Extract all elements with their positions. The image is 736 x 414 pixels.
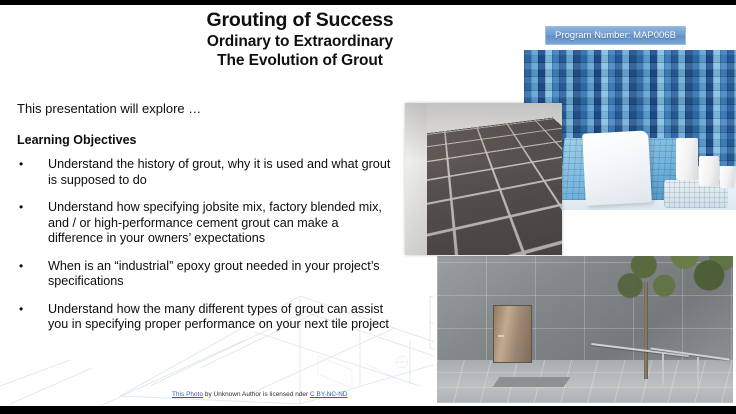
program-number-badge: Program Number: MAP006B bbox=[545, 26, 686, 45]
bullet-marker-icon: • bbox=[19, 157, 23, 173]
list-item-text: When is an “industrial” epoxy grout need… bbox=[48, 259, 380, 289]
letterbox-bar-bottom bbox=[0, 406, 736, 414]
handrail-post bbox=[697, 357, 699, 386]
list-item-text: Understand the history of grout, why it … bbox=[48, 157, 390, 187]
slide-title-sub2: The Evolution of Grout bbox=[150, 51, 450, 70]
white-towel bbox=[582, 130, 652, 205]
list-item: • When is an “industrial” epoxy grout ne… bbox=[17, 259, 395, 290]
list-item-text: Understand how the many different types … bbox=[48, 302, 389, 332]
slide-title-sub1: Ordinary to Extraordinary bbox=[150, 32, 450, 51]
bronze-entry-door bbox=[493, 305, 532, 364]
list-item: • Understand how the many different type… bbox=[17, 302, 395, 333]
slide-title-block: Grouting of Success Ordinary to Extraord… bbox=[150, 9, 450, 70]
presentation-slide-frame: Grouting of Success Ordinary to Extraord… bbox=[0, 0, 736, 414]
entry-mat-shadow bbox=[493, 377, 571, 387]
handrail-post bbox=[662, 353, 664, 385]
attribution-photo-link[interactable]: This Photo bbox=[172, 391, 203, 398]
bullet-marker-icon: • bbox=[19, 259, 23, 275]
intro-text: This presentation will explore … bbox=[17, 100, 201, 117]
photo-gray-stone-building-facade bbox=[434, 253, 736, 406]
attribution-license-link[interactable]: C BY-NC-ND bbox=[310, 391, 348, 398]
white-candle bbox=[699, 156, 719, 186]
slide-canvas: Grouting of Success Ordinary to Extraord… bbox=[0, 5, 736, 406]
learning-objectives-heading: Learning Objectives bbox=[17, 133, 136, 147]
letterbox-bar-top bbox=[0, 0, 736, 5]
photo-dark-gray-floor-tile bbox=[405, 103, 562, 255]
list-item: • Understand how specifying jobsite mix,… bbox=[17, 200, 395, 247]
photo-attribution: This Photo by Unknown Author is licensed… bbox=[172, 391, 348, 398]
attribution-middle-text: by Unknown Author is licensed nder bbox=[203, 391, 310, 398]
bullet-marker-icon: • bbox=[19, 200, 23, 216]
bullet-marker-icon: • bbox=[19, 302, 23, 318]
tree-canopy bbox=[603, 253, 736, 306]
floor-photo-shading bbox=[405, 103, 562, 255]
learning-objectives-list: • Understand the history of grout, why i… bbox=[17, 157, 395, 345]
paved-plaza-ground bbox=[437, 360, 733, 403]
white-candle bbox=[720, 166, 734, 188]
list-item: • Understand the history of grout, why i… bbox=[17, 157, 395, 188]
slide-title-main: Grouting of Success bbox=[150, 9, 450, 32]
white-candle bbox=[676, 138, 698, 180]
list-item-text: Understand how specifying jobsite mix, f… bbox=[48, 200, 382, 245]
